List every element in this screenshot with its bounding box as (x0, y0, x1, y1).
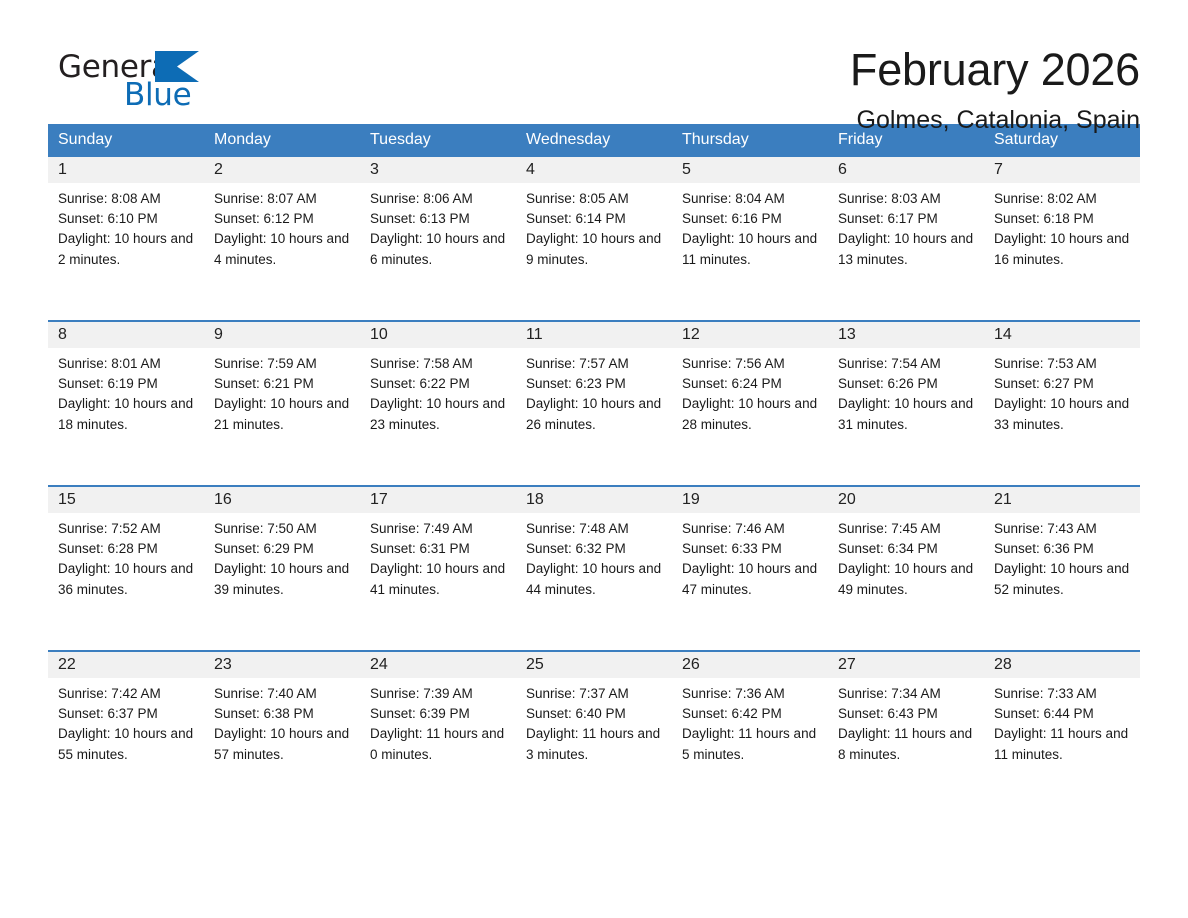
day-number: 10 (360, 322, 516, 348)
sunset-text: Sunset: 6:34 PM (838, 539, 976, 559)
day-number: 17 (360, 487, 516, 513)
calendar-day-cell[interactable]: 28Sunrise: 7:33 AMSunset: 6:44 PMDayligh… (984, 652, 1140, 810)
sunset-text: Sunset: 6:40 PM (526, 704, 664, 724)
general-blue-logo: General Blue (48, 44, 248, 114)
day-details: Sunrise: 7:48 AMSunset: 6:32 PMDaylight:… (516, 513, 672, 600)
calendar-day-cell[interactable]: 3Sunrise: 8:06 AMSunset: 6:13 PMDaylight… (360, 157, 516, 320)
day-details: Sunrise: 7:45 AMSunset: 6:34 PMDaylight:… (828, 513, 984, 600)
sunset-text: Sunset: 6:27 PM (994, 374, 1132, 394)
day-details: Sunrise: 8:06 AMSunset: 6:13 PMDaylight:… (360, 183, 516, 270)
calendar-day-cell[interactable]: 2Sunrise: 8:07 AMSunset: 6:12 PMDaylight… (204, 157, 360, 320)
sunrise-text: Sunrise: 8:01 AM (58, 354, 196, 374)
sunrise-text: Sunrise: 7:36 AM (682, 684, 820, 704)
day-details: Sunrise: 7:34 AMSunset: 6:43 PMDaylight:… (828, 678, 984, 765)
day-details: Sunrise: 8:02 AMSunset: 6:18 PMDaylight:… (984, 183, 1140, 270)
daylight-text: Daylight: 10 hours and 4 minutes. (214, 229, 352, 269)
sunrise-text: Sunrise: 8:03 AM (838, 189, 976, 209)
calendar-week-row: 8Sunrise: 8:01 AMSunset: 6:19 PMDaylight… (48, 320, 1140, 485)
sunset-text: Sunset: 6:42 PM (682, 704, 820, 724)
sunset-text: Sunset: 6:22 PM (370, 374, 508, 394)
calendar-day-cell[interactable]: 5Sunrise: 8:04 AMSunset: 6:16 PMDaylight… (672, 157, 828, 320)
day-details: Sunrise: 7:40 AMSunset: 6:38 PMDaylight:… (204, 678, 360, 765)
day-number: 2 (204, 157, 360, 183)
day-details: Sunrise: 8:04 AMSunset: 6:16 PMDaylight:… (672, 183, 828, 270)
day-details: Sunrise: 7:43 AMSunset: 6:36 PMDaylight:… (984, 513, 1140, 600)
day-details: Sunrise: 7:37 AMSunset: 6:40 PMDaylight:… (516, 678, 672, 765)
day-details: Sunrise: 8:05 AMSunset: 6:14 PMDaylight:… (516, 183, 672, 270)
day-details: Sunrise: 7:50 AMSunset: 6:29 PMDaylight:… (204, 513, 360, 600)
weekday-thursday: Thursday (672, 124, 828, 155)
sunrise-text: Sunrise: 7:42 AM (58, 684, 196, 704)
daylight-text: Daylight: 10 hours and 57 minutes. (214, 724, 352, 764)
day-details: Sunrise: 7:58 AMSunset: 6:22 PMDaylight:… (360, 348, 516, 435)
sunset-text: Sunset: 6:31 PM (370, 539, 508, 559)
sunset-text: Sunset: 6:38 PM (214, 704, 352, 724)
day-details: Sunrise: 7:49 AMSunset: 6:31 PMDaylight:… (360, 513, 516, 600)
calendar-day-cell[interactable]: 10Sunrise: 7:58 AMSunset: 6:22 PMDayligh… (360, 322, 516, 485)
daylight-text: Daylight: 10 hours and 23 minutes. (370, 394, 508, 434)
sunrise-text: Sunrise: 7:45 AM (838, 519, 976, 539)
calendar-grid: Sunday Monday Tuesday Wednesday Thursday… (48, 124, 1140, 810)
sunrise-text: Sunrise: 7:54 AM (838, 354, 976, 374)
day-details: Sunrise: 7:57 AMSunset: 6:23 PMDaylight:… (516, 348, 672, 435)
sunrise-text: Sunrise: 7:40 AM (214, 684, 352, 704)
day-number: 4 (516, 157, 672, 183)
daylight-text: Daylight: 10 hours and 18 minutes. (58, 394, 196, 434)
day-details: Sunrise: 8:07 AMSunset: 6:12 PMDaylight:… (204, 183, 360, 270)
calendar-day-cell[interactable]: 14Sunrise: 7:53 AMSunset: 6:27 PMDayligh… (984, 322, 1140, 485)
sunset-text: Sunset: 6:29 PM (214, 539, 352, 559)
calendar-weeks: 1Sunrise: 8:08 AMSunset: 6:10 PMDaylight… (48, 155, 1140, 810)
daylight-text: Daylight: 10 hours and 16 minutes. (994, 229, 1132, 269)
day-number: 25 (516, 652, 672, 678)
day-number: 26 (672, 652, 828, 678)
daylight-text: Daylight: 10 hours and 28 minutes. (682, 394, 820, 434)
sunset-text: Sunset: 6:28 PM (58, 539, 196, 559)
day-details: Sunrise: 7:52 AMSunset: 6:28 PMDaylight:… (48, 513, 204, 600)
day-number: 3 (360, 157, 516, 183)
sunrise-text: Sunrise: 8:07 AM (214, 189, 352, 209)
day-number: 15 (48, 487, 204, 513)
sunrise-text: Sunrise: 7:34 AM (838, 684, 976, 704)
sunset-text: Sunset: 6:26 PM (838, 374, 976, 394)
calendar-day-cell[interactable]: 18Sunrise: 7:48 AMSunset: 6:32 PMDayligh… (516, 487, 672, 650)
day-details: Sunrise: 8:01 AMSunset: 6:19 PMDaylight:… (48, 348, 204, 435)
day-number: 28 (984, 652, 1140, 678)
day-number: 18 (516, 487, 672, 513)
daylight-text: Daylight: 10 hours and 47 minutes. (682, 559, 820, 599)
sunset-text: Sunset: 6:39 PM (370, 704, 508, 724)
calendar-day-cell[interactable]: 6Sunrise: 8:03 AMSunset: 6:17 PMDaylight… (828, 157, 984, 320)
weekday-sunday: Sunday (48, 124, 204, 155)
sunset-text: Sunset: 6:18 PM (994, 209, 1132, 229)
day-details: Sunrise: 7:33 AMSunset: 6:44 PMDaylight:… (984, 678, 1140, 765)
sunset-text: Sunset: 6:12 PM (214, 209, 352, 229)
calendar-week-row: 22Sunrise: 7:42 AMSunset: 6:37 PMDayligh… (48, 650, 1140, 810)
daylight-text: Daylight: 11 hours and 0 minutes. (370, 724, 508, 764)
sunrise-text: Sunrise: 7:43 AM (994, 519, 1132, 539)
calendar-day-cell[interactable]: 13Sunrise: 7:54 AMSunset: 6:26 PMDayligh… (828, 322, 984, 485)
daylight-text: Daylight: 10 hours and 2 minutes. (58, 229, 196, 269)
day-details: Sunrise: 7:36 AMSunset: 6:42 PMDaylight:… (672, 678, 828, 765)
sunrise-text: Sunrise: 8:06 AM (370, 189, 508, 209)
calendar-week-row: 15Sunrise: 7:52 AMSunset: 6:28 PMDayligh… (48, 485, 1140, 650)
daylight-text: Daylight: 10 hours and 55 minutes. (58, 724, 196, 764)
calendar-day-cell[interactable]: 21Sunrise: 7:43 AMSunset: 6:36 PMDayligh… (984, 487, 1140, 650)
daylight-text: Daylight: 11 hours and 5 minutes. (682, 724, 820, 764)
day-number: 21 (984, 487, 1140, 513)
sunset-text: Sunset: 6:13 PM (370, 209, 508, 229)
sunrise-text: Sunrise: 7:58 AM (370, 354, 508, 374)
sunset-text: Sunset: 6:43 PM (838, 704, 976, 724)
day-number: 8 (48, 322, 204, 348)
sunset-text: Sunset: 6:33 PM (682, 539, 820, 559)
sunrise-text: Sunrise: 7:57 AM (526, 354, 664, 374)
daylight-text: Daylight: 10 hours and 36 minutes. (58, 559, 196, 599)
calendar-day-cell[interactable]: 23Sunrise: 7:40 AMSunset: 6:38 PMDayligh… (204, 652, 360, 810)
logo-text-blue: Blue (124, 77, 191, 113)
daylight-text: Daylight: 10 hours and 33 minutes. (994, 394, 1132, 434)
daylight-text: Daylight: 10 hours and 31 minutes. (838, 394, 976, 434)
daylight-text: Daylight: 10 hours and 11 minutes. (682, 229, 820, 269)
sunrise-text: Sunrise: 7:33 AM (994, 684, 1132, 704)
weekday-monday: Monday (204, 124, 360, 155)
sunrise-text: Sunrise: 8:02 AM (994, 189, 1132, 209)
sunrise-text: Sunrise: 8:04 AM (682, 189, 820, 209)
sunrise-text: Sunrise: 7:39 AM (370, 684, 508, 704)
day-number: 24 (360, 652, 516, 678)
calendar-day-cell[interactable]: 9Sunrise: 7:59 AMSunset: 6:21 PMDaylight… (204, 322, 360, 485)
day-details: Sunrise: 8:08 AMSunset: 6:10 PMDaylight:… (48, 183, 204, 270)
day-number: 11 (516, 322, 672, 348)
day-details: Sunrise: 7:42 AMSunset: 6:37 PMDaylight:… (48, 678, 204, 765)
daylight-text: Daylight: 10 hours and 13 minutes. (838, 229, 976, 269)
title-block: February 2026 Golmes, Catalonia, Spain (248, 44, 1140, 135)
sunset-text: Sunset: 6:16 PM (682, 209, 820, 229)
daylight-text: Daylight: 11 hours and 8 minutes. (838, 724, 976, 764)
sunset-text: Sunset: 6:24 PM (682, 374, 820, 394)
sunrise-text: Sunrise: 7:50 AM (214, 519, 352, 539)
daylight-text: Daylight: 10 hours and 44 minutes. (526, 559, 664, 599)
daylight-text: Daylight: 10 hours and 39 minutes. (214, 559, 352, 599)
day-number: 5 (672, 157, 828, 183)
calendar-week-row: 1Sunrise: 8:08 AMSunset: 6:10 PMDaylight… (48, 155, 1140, 320)
day-number: 14 (984, 322, 1140, 348)
weekday-saturday: Saturday (984, 124, 1140, 155)
sunset-text: Sunset: 6:19 PM (58, 374, 196, 394)
sunset-text: Sunset: 6:32 PM (526, 539, 664, 559)
weekday-friday: Friday (828, 124, 984, 155)
day-number: 1 (48, 157, 204, 183)
calendar-day-cell[interactable]: 15Sunrise: 7:52 AMSunset: 6:28 PMDayligh… (48, 487, 204, 650)
sunset-text: Sunset: 6:36 PM (994, 539, 1132, 559)
calendar-day-cell[interactable]: 25Sunrise: 7:37 AMSunset: 6:40 PMDayligh… (516, 652, 672, 810)
calendar-day-cell[interactable]: 27Sunrise: 7:34 AMSunset: 6:43 PMDayligh… (828, 652, 984, 810)
sunrise-text: Sunrise: 8:05 AM (526, 189, 664, 209)
day-details: Sunrise: 7:59 AMSunset: 6:21 PMDaylight:… (204, 348, 360, 435)
calendar-day-cell[interactable]: 8Sunrise: 8:01 AMSunset: 6:19 PMDaylight… (48, 322, 204, 485)
daylight-text: Daylight: 10 hours and 9 minutes. (526, 229, 664, 269)
day-number: 19 (672, 487, 828, 513)
sunrise-text: Sunrise: 7:49 AM (370, 519, 508, 539)
page-header: General Blue February 2026 Golmes, Catal… (48, 0, 1140, 106)
sunrise-text: Sunrise: 7:53 AM (994, 354, 1132, 374)
sunrise-text: Sunrise: 8:08 AM (58, 189, 196, 209)
calendar-day-cell[interactable]: 7Sunrise: 8:02 AMSunset: 6:18 PMDaylight… (984, 157, 1140, 320)
day-number: 7 (984, 157, 1140, 183)
sunset-text: Sunset: 6:17 PM (838, 209, 976, 229)
calendar-page: General Blue February 2026 Golmes, Catal… (0, 0, 1188, 918)
calendar-day-cell[interactable]: 16Sunrise: 7:50 AMSunset: 6:29 PMDayligh… (204, 487, 360, 650)
day-details: Sunrise: 7:56 AMSunset: 6:24 PMDaylight:… (672, 348, 828, 435)
daylight-text: Daylight: 10 hours and 41 minutes. (370, 559, 508, 599)
sunset-text: Sunset: 6:37 PM (58, 704, 196, 724)
calendar-day-cell[interactable]: 26Sunrise: 7:36 AMSunset: 6:42 PMDayligh… (672, 652, 828, 810)
day-number: 20 (828, 487, 984, 513)
calendar-day-cell[interactable]: 17Sunrise: 7:49 AMSunset: 6:31 PMDayligh… (360, 487, 516, 650)
sunset-text: Sunset: 6:10 PM (58, 209, 196, 229)
daylight-text: Daylight: 10 hours and 26 minutes. (526, 394, 664, 434)
daylight-text: Daylight: 10 hours and 21 minutes. (214, 394, 352, 434)
day-details: Sunrise: 7:46 AMSunset: 6:33 PMDaylight:… (672, 513, 828, 600)
day-details: Sunrise: 7:53 AMSunset: 6:27 PMDaylight:… (984, 348, 1140, 435)
daylight-text: Daylight: 10 hours and 49 minutes. (838, 559, 976, 599)
sunrise-text: Sunrise: 7:46 AM (682, 519, 820, 539)
daylight-text: Daylight: 11 hours and 3 minutes. (526, 724, 664, 764)
day-number: 13 (828, 322, 984, 348)
sunrise-text: Sunrise: 7:48 AM (526, 519, 664, 539)
day-number: 22 (48, 652, 204, 678)
sunrise-text: Sunrise: 7:56 AM (682, 354, 820, 374)
calendar-day-cell[interactable]: 24Sunrise: 7:39 AMSunset: 6:39 PMDayligh… (360, 652, 516, 810)
calendar-day-cell[interactable]: 19Sunrise: 7:46 AMSunset: 6:33 PMDayligh… (672, 487, 828, 650)
day-number: 23 (204, 652, 360, 678)
day-number: 6 (828, 157, 984, 183)
daylight-text: Daylight: 10 hours and 6 minutes. (370, 229, 508, 269)
calendar-day-cell[interactable]: 4Sunrise: 8:05 AMSunset: 6:14 PMDaylight… (516, 157, 672, 320)
calendar-day-cell[interactable]: 1Sunrise: 8:08 AMSunset: 6:10 PMDaylight… (48, 157, 204, 320)
sunrise-text: Sunrise: 7:52 AM (58, 519, 196, 539)
weekday-tuesday: Tuesday (360, 124, 516, 155)
calendar-day-cell[interactable]: 11Sunrise: 7:57 AMSunset: 6:23 PMDayligh… (516, 322, 672, 485)
sunrise-text: Sunrise: 7:37 AM (526, 684, 664, 704)
day-number: 9 (204, 322, 360, 348)
page-title: February 2026 (248, 44, 1140, 96)
daylight-text: Daylight: 11 hours and 11 minutes. (994, 724, 1132, 764)
day-details: Sunrise: 7:54 AMSunset: 6:26 PMDaylight:… (828, 348, 984, 435)
calendar-day-cell[interactable]: 22Sunrise: 7:42 AMSunset: 6:37 PMDayligh… (48, 652, 204, 810)
sunset-text: Sunset: 6:14 PM (526, 209, 664, 229)
sunset-text: Sunset: 6:23 PM (526, 374, 664, 394)
daylight-text: Daylight: 10 hours and 52 minutes. (994, 559, 1132, 599)
calendar-day-cell[interactable]: 20Sunrise: 7:45 AMSunset: 6:34 PMDayligh… (828, 487, 984, 650)
weekday-wednesday: Wednesday (516, 124, 672, 155)
day-number: 27 (828, 652, 984, 678)
calendar-day-cell[interactable]: 12Sunrise: 7:56 AMSunset: 6:24 PMDayligh… (672, 322, 828, 485)
day-details: Sunrise: 8:03 AMSunset: 6:17 PMDaylight:… (828, 183, 984, 270)
day-number: 16 (204, 487, 360, 513)
weekday-header-row: Sunday Monday Tuesday Wednesday Thursday… (48, 124, 1140, 155)
sunset-text: Sunset: 6:21 PM (214, 374, 352, 394)
sunset-text: Sunset: 6:44 PM (994, 704, 1132, 724)
day-details: Sunrise: 7:39 AMSunset: 6:39 PMDaylight:… (360, 678, 516, 765)
day-number: 12 (672, 322, 828, 348)
sunrise-text: Sunrise: 7:59 AM (214, 354, 352, 374)
